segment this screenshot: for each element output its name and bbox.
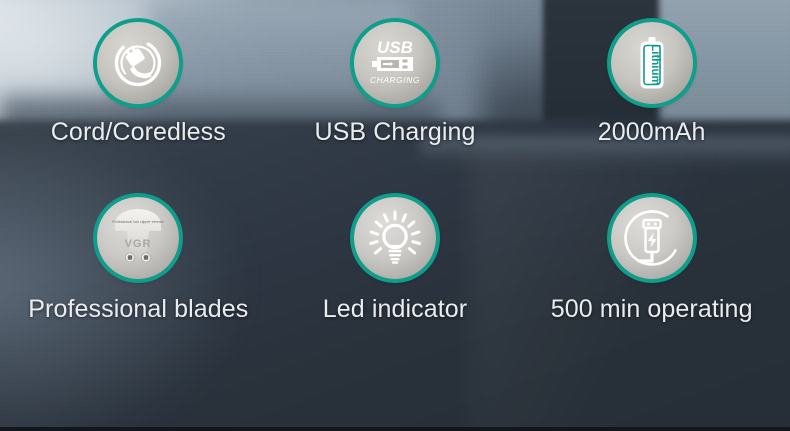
usb-cable-bolt-icon [621,207,683,269]
light-bulb-icon [366,209,424,267]
feature-item-usb-charging: USB CHARGING [267,22,524,197]
feature-badge [354,197,436,279]
feature-label: Professional blades [28,295,248,324]
feature-badge: Lithium [611,22,693,104]
feature-item-cord-coredless: Cord/Coredless [10,22,267,197]
clipper-blade-head-icon: Professional hair clipper trimmer VGR [106,207,170,269]
usb-charging-icon: USB CHARGING [366,36,424,90]
feature-badge: Professional hair clipper trimmer VGR [97,197,179,279]
feature-label: 2000mAh [598,118,706,147]
feature-label: Cord/Coredless [51,118,226,147]
vgr-brand-text: VGR [125,238,152,250]
feature-badge [97,22,179,104]
feature-label: Led indicator [323,295,467,324]
charging-icon-text: CHARGING [370,75,420,85]
feature-item-led-indicator: Led indicator [267,197,524,372]
feature-grid: Cord/Coredless USB [0,0,790,431]
feature-label: 500 min operating [551,295,753,324]
feature-item-professional-blades: Professional hair clipper trimmer VGR Pr… [10,197,267,372]
feature-item-battery-capacity: Lithium 2000mAh [523,22,780,197]
product-feature-banner: Cord/Coredless USB [0,0,790,431]
feature-item-operating-time: 500 min operating [523,197,780,372]
blade-microtext: Professional hair clipper trimmer [113,220,165,224]
feature-badge [611,197,693,279]
usb-icon-text: USB [377,38,413,57]
lithium-battery-icon: Lithium [626,34,678,92]
plug-cord-icon [110,35,166,91]
lithium-icon-text: Lithium [649,44,661,86]
feature-label: USB Charging [314,118,475,147]
feature-badge: USB CHARGING [354,22,436,104]
